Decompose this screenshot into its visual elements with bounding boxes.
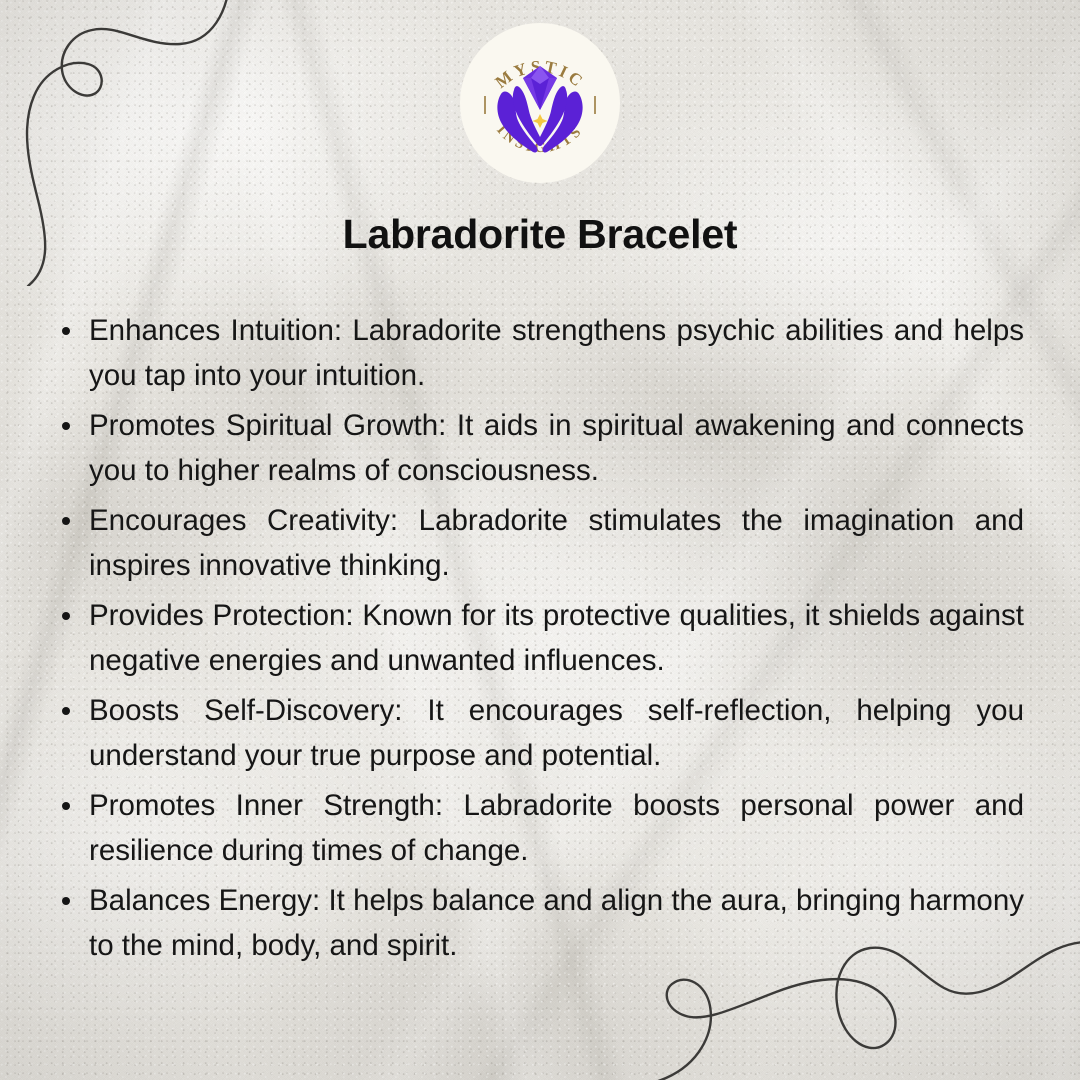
list-item: Promotes Spiritual Growth: It aids in sp… — [58, 403, 1024, 493]
list-item: Enhances Intuition: Labradorite strength… — [58, 308, 1024, 398]
bullet-icon — [62, 897, 70, 905]
bullet-icon — [62, 612, 70, 620]
list-item-text: Promotes Spiritual Growth: It aids in sp… — [89, 403, 1024, 493]
list-item-text: Encourages Creativity: Labradorite stimu… — [89, 498, 1024, 588]
bullet-icon — [62, 327, 70, 335]
benefits-list: Enhances Intuition: Labradorite strength… — [58, 308, 1024, 968]
list-item-text: Enhances Intuition: Labradorite strength… — [89, 308, 1024, 398]
bullet-icon — [62, 517, 70, 525]
page-title: Labradorite Bracelet — [0, 211, 1080, 258]
list-item: Encourages Creativity: Labradorite stimu… — [58, 498, 1024, 588]
list-item-text: Boosts Self-Discovery: It encourages sel… — [89, 688, 1024, 778]
list-item-text: Balances Energy: It helps balance and al… — [89, 878, 1024, 968]
list-item: Provides Protection: Known for its prote… — [58, 593, 1024, 683]
sparkle-icon — [533, 114, 548, 128]
bullet-icon — [62, 707, 70, 715]
list-item: Promotes Inner Strength: Labradorite boo… — [58, 783, 1024, 873]
list-item: Balances Energy: It helps balance and al… — [58, 878, 1024, 968]
list-item: Boosts Self-Discovery: It encourages sel… — [58, 688, 1024, 778]
mystic-insights-logo-icon: MYSTIC INSIGHTS — [465, 28, 615, 178]
list-item-text: Promotes Inner Strength: Labradorite boo… — [89, 783, 1024, 873]
bullet-icon — [62, 422, 70, 430]
list-item-text: Provides Protection: Known for its prote… — [89, 593, 1024, 683]
bullet-icon — [62, 802, 70, 810]
brand-logo-badge: MYSTIC INSIGHTS — [460, 23, 620, 183]
poster-canvas: MYSTIC INSIGHTS — [0, 0, 1080, 1080]
